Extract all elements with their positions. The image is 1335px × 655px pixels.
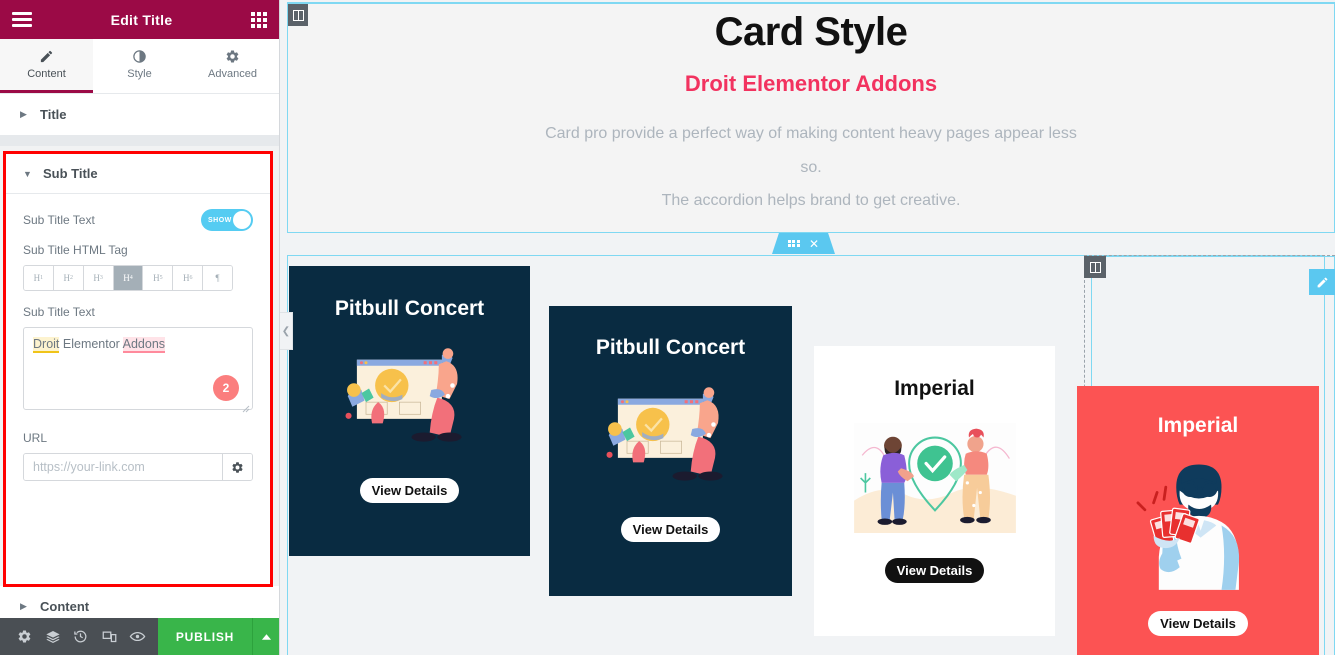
panel-header: Edit Title — [0, 0, 279, 39]
card-button-wrap: View Details — [885, 558, 985, 583]
sub-title-text-toggle[interactable]: SHOW — [201, 209, 253, 231]
hamburger-icon[interactable] — [12, 12, 32, 27]
chevron-right-icon: ▶ — [20, 601, 28, 612]
sub-title-text-toggle-label: Sub Title Text — [23, 213, 95, 227]
man-holding-cards-illustration — [1124, 452, 1272, 597]
pencil-icon — [39, 49, 54, 64]
section-title[interactable]: ▶ Title — [0, 94, 279, 136]
url-label: URL — [23, 431, 253, 445]
card-title: Imperial — [1158, 414, 1239, 438]
section-sub-title-body: Sub Title Text SHOW Sub Title HTML Tag H… — [6, 194, 270, 491]
html-tag-h6[interactable]: H6 — [173, 266, 203, 290]
close-x-icon[interactable]: ✕ — [809, 238, 819, 250]
hero-body-line-3: The accordion helps brand to get creativ… — [288, 184, 1334, 218]
drag-grid-icon[interactable] — [788, 240, 800, 248]
gear-icon — [225, 49, 240, 64]
chevron-down-icon: ▼ — [23, 169, 31, 179]
panel-title: Edit Title — [111, 12, 173, 28]
column-icon — [1090, 262, 1101, 273]
panel-body: ▶ Title ▼ Sub Title Sub Title Text SHOW — [0, 94, 279, 618]
apps-grid-icon[interactable] — [251, 12, 267, 28]
card-item[interactable]: Imperial — [814, 346, 1055, 636]
html-tag-label: Sub Title HTML Tag — [23, 243, 253, 257]
html-tag-h2[interactable]: H2 — [54, 266, 84, 290]
tab-content[interactable]: Content — [0, 39, 93, 93]
editor-canvas: ❮ Card Style Droit Elementor Addons Card… — [280, 0, 1335, 655]
section-content[interactable]: ▶ Content — [0, 586, 279, 618]
card-title: Pitbull Concert — [596, 336, 745, 360]
card-item[interactable]: Pitbull Concert — [289, 266, 530, 556]
card-button-wrap: View Details — [1148, 611, 1248, 636]
elementor-editor: Edit Title Content Style — [0, 0, 1335, 655]
section-sub-title-header[interactable]: ▼ Sub Title — [6, 154, 270, 194]
tab-style[interactable]: Style — [93, 39, 186, 93]
panel-collapse-chevron-left-icon[interactable]: ❮ — [280, 312, 293, 350]
html-tag-paragraph[interactable]: ¶ — [203, 266, 232, 290]
editor-panel: Edit Title Content Style — [0, 0, 280, 655]
tab-style-label: Style — [127, 68, 151, 80]
html-tag-h1[interactable]: H1 — [24, 266, 54, 290]
card-title: Imperial — [894, 377, 975, 401]
hero-body-line-1: Card pro provide a perfect way of making… — [288, 117, 1334, 151]
section-sub-title-highlight: ▼ Sub Title Sub Title Text SHOW Sub Titl… — [3, 151, 273, 587]
section-content-label: Content — [40, 599, 259, 614]
edit-widget-pencil-icon[interactable] — [1309, 269, 1335, 295]
right-column-handle[interactable] — [1084, 256, 1106, 278]
section-divider — [0, 136, 279, 146]
toggle-state-label: SHOW — [208, 217, 232, 224]
navigator-layers-icon[interactable] — [38, 618, 66, 655]
preview-eye-icon[interactable] — [124, 618, 152, 655]
column-icon — [293, 10, 304, 21]
two-people-location-pin-illustration — [854, 423, 1016, 538]
view-details-button[interactable]: View Details — [1148, 611, 1248, 636]
publish-button[interactable]: PUBLISH — [158, 618, 252, 655]
section-title-label: Title — [40, 107, 259, 122]
tab-advanced[interactable]: Advanced — [186, 39, 279, 93]
html-tag-h3[interactable]: H3 — [84, 266, 114, 290]
cards-section: Pitbull Concert — [287, 255, 1335, 655]
view-details-button[interactable]: View Details — [621, 517, 721, 542]
annotation-badge-2: 2 — [213, 375, 239, 401]
contrast-circle-icon — [132, 49, 147, 64]
hero-title: Card Style — [288, 10, 1334, 55]
card-item[interactable]: Pitbull Concert — [549, 306, 792, 596]
responsive-device-icon[interactable] — [95, 618, 123, 655]
view-details-button[interactable]: View Details — [360, 478, 460, 503]
hero-column-handle[interactable] — [288, 4, 308, 26]
view-details-button[interactable]: View Details — [885, 558, 985, 583]
publish-dropdown-chevron-up-icon[interactable] — [252, 618, 279, 655]
panel-footer: PUBLISH — [0, 618, 279, 655]
sub-title-textarea-wrapper: Droit Elementor Addons 2 — [23, 327, 253, 415]
people-with-browser-window-illustration — [595, 382, 747, 497]
tab-advanced-label: Advanced — [208, 68, 257, 80]
html-tag-group: H1 H2 H3 H4 H5 H6 ¶ — [23, 265, 233, 291]
tab-content-label: Content — [27, 68, 66, 80]
sub-title-text-toggle-row: Sub Title Text SHOW — [23, 209, 253, 231]
sub-title-text-label: Sub Title Text — [23, 305, 253, 319]
url-input-row — [23, 453, 253, 481]
hero-subtitle: Droit Elementor Addons — [288, 71, 1334, 97]
history-revisions-icon[interactable] — [67, 618, 95, 655]
toggle-knob — [233, 211, 251, 229]
card-title: Pitbull Concert — [335, 297, 484, 321]
chevron-right-icon: ▶ — [20, 109, 28, 120]
panel-tabs: Content Style Advanced — [0, 39, 279, 94]
url-settings-gear-icon[interactable] — [222, 454, 252, 480]
section-toolbar-handle[interactable]: ✕ — [772, 233, 835, 254]
card-item[interactable]: Imperial — [1077, 386, 1319, 655]
people-with-browser-window-illustration — [334, 343, 486, 458]
hero-body-line-2: so. — [288, 151, 1334, 185]
hero-section[interactable]: Card Style Droit Elementor Addons Card p… — [287, 2, 1335, 233]
section-sub-title-label: Sub Title — [43, 166, 98, 181]
card-button-wrap: View Details — [621, 517, 721, 542]
html-tag-h5[interactable]: H5 — [143, 266, 173, 290]
card-button-wrap: View Details — [360, 478, 460, 503]
settings-gear-icon[interactable] — [10, 618, 38, 655]
url-input[interactable] — [24, 454, 222, 480]
html-tag-h4[interactable]: H4 — [114, 266, 144, 290]
